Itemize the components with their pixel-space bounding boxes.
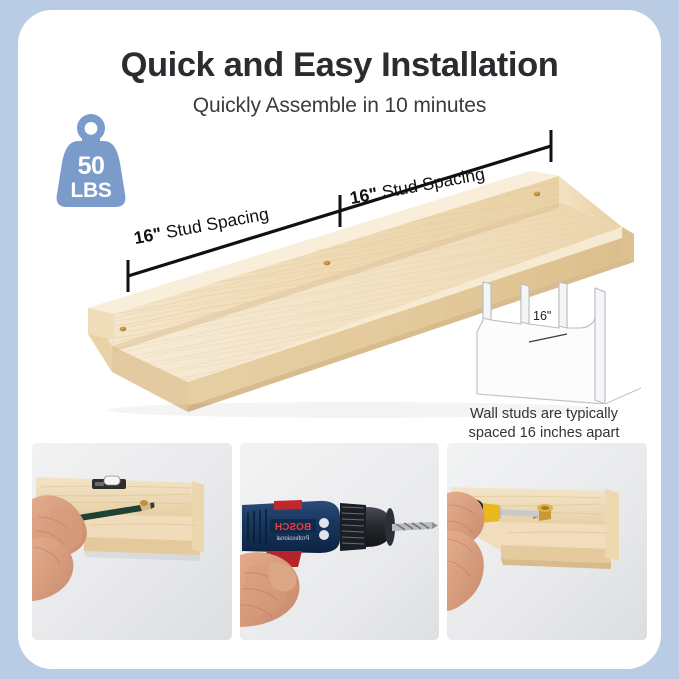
photo-mark-with-pencil [32,443,232,640]
step-photos: BOSCH Professional [32,443,647,640]
drill-subbrand-label: Professional [276,536,309,542]
page-title: Quick and Easy Installation [18,46,661,85]
drill-brand-label: BOSCH [275,522,311,533]
stud-caption: Wall studs are typically spaced 16 inche… [446,405,642,443]
photo-screw-shelf [447,443,647,640]
step-photo-2: BOSCH Professional [240,443,440,640]
step-photo-3 [447,443,647,640]
stud-dimension-label: 16" [533,309,551,323]
photo-drill-wall: BOSCH Professional [240,443,440,640]
wall-studs-diagram: 16" [455,272,645,404]
stud-caption-line2: spaced 16 inches apart [446,424,642,443]
step-photo-1 [32,443,232,640]
dimension-value-right: 16" [348,183,379,208]
dimension-value-left: 16" [132,223,163,248]
infographic-page: Quick and Easy Installation Quickly Asse… [0,0,679,679]
stud-caption-line1: Wall studs are typically [446,405,642,424]
